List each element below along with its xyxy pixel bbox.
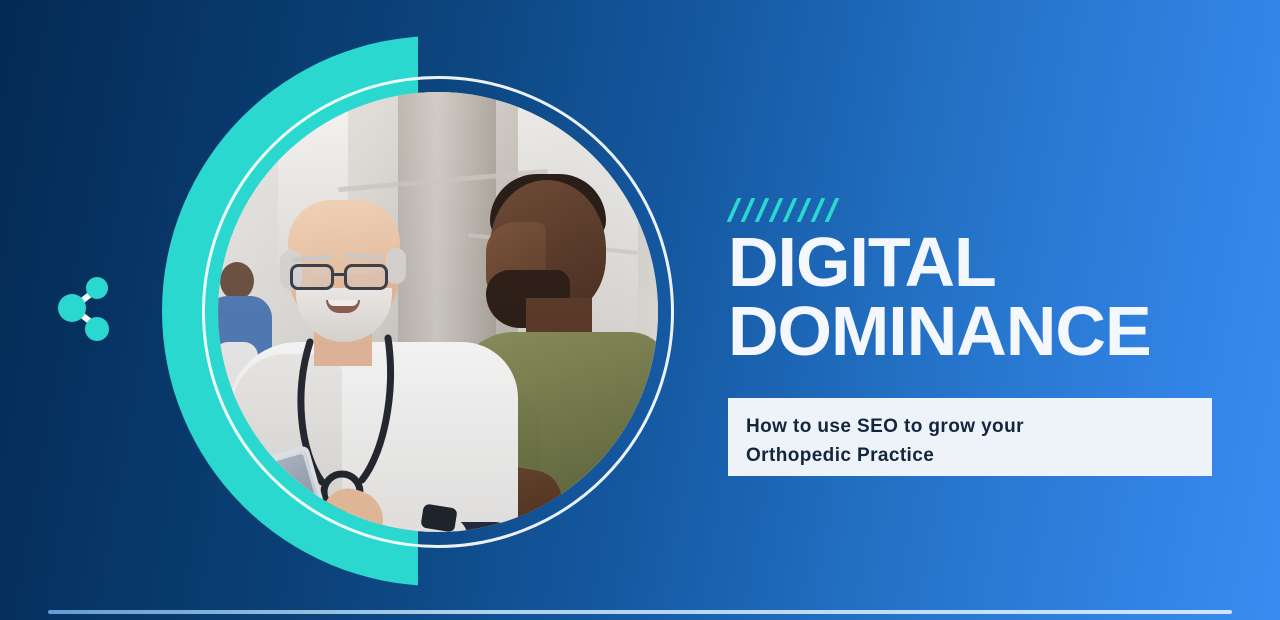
headline-line-1: DIGITAL: [728, 228, 1220, 297]
subtitle-panel: How to use SEO to grow your Orthopedic P…: [728, 398, 1212, 476]
page-title: DIGITAL DOMINANCE: [728, 228, 1220, 365]
bottom-divider: [48, 610, 1232, 614]
doctor-patient-photo: [218, 92, 658, 532]
subtitle-line-2: Orthopedic Practice: [746, 445, 934, 466]
slash-mark: [741, 198, 756, 222]
slash-mark: [755, 198, 770, 222]
hero-photo-cluster: [150, 28, 730, 594]
subtitle-text: How to use SEO to grow your Orthopedic P…: [746, 412, 1196, 471]
slash-mark: [727, 198, 742, 222]
slash-mark: [797, 198, 812, 222]
subtitle-line-1: How to use SEO to grow your: [746, 416, 1024, 437]
slash-mark: [825, 198, 840, 222]
headline-line-2: DOMINANCE: [728, 297, 1220, 366]
slash-mark: [811, 198, 826, 222]
slide-canvas: DIGITAL DOMINANCE How to use SEO to grow…: [0, 0, 1280, 620]
content-column: DIGITAL DOMINANCE How to use SEO to grow…: [728, 0, 1220, 620]
slash-mark: [783, 198, 798, 222]
decorative-slashes: [732, 198, 852, 224]
photo-overlay: [218, 92, 658, 532]
slash-mark: [769, 198, 784, 222]
share-icon[interactable]: [52, 272, 114, 344]
